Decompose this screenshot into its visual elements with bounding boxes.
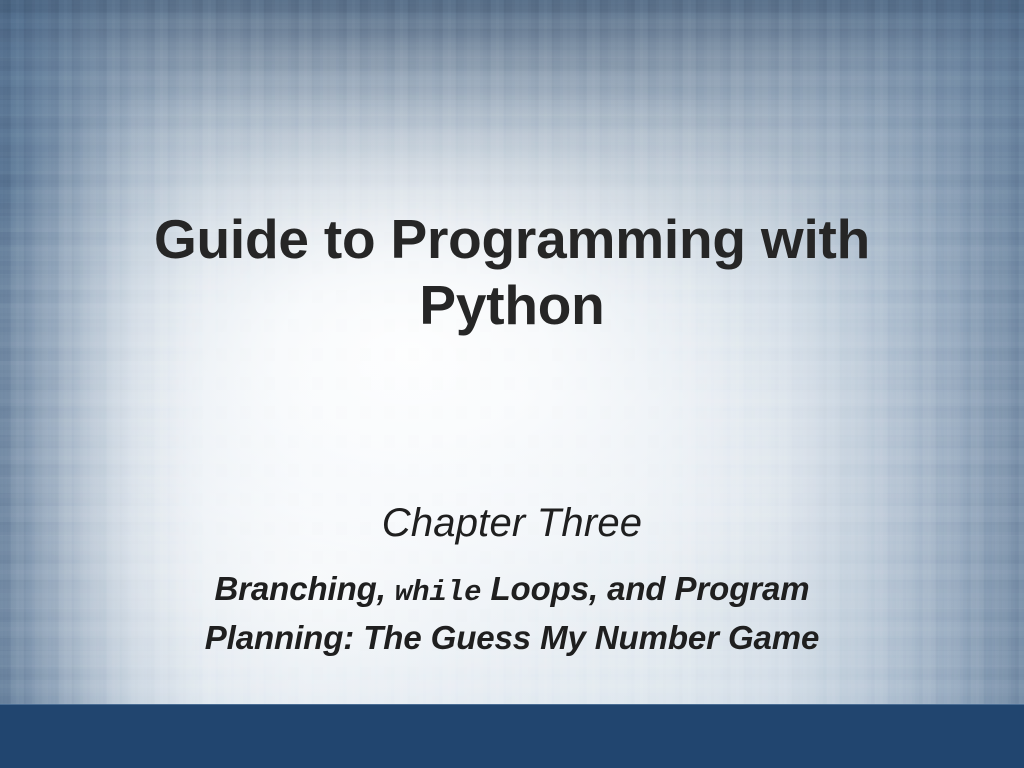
footer-accent-bar [0,704,1024,768]
presentation-slide: Guide to Programming with Python Chapter… [0,0,1024,768]
chapter-label: Chapter Three [70,498,954,548]
slide-subtitle: Chapter Three Branching, while Loops, an… [70,498,954,660]
title-line-2: Python [62,272,962,338]
subtitle-text-before-keyword: Branching, [214,570,385,607]
slide-title: Guide to Programming with Python [62,206,962,338]
subtitle-line-2: Planning: The Guess My Number Game [70,615,954,660]
subtitle-description: Branching, while Loops, and Program Plan… [70,566,954,660]
subtitle-code-keyword: while [395,576,482,609]
subtitle-line-1: Branching, while Loops, and Program [70,566,954,615]
subtitle-text-after-keyword: Loops, and Program [490,570,809,607]
title-line-1: Guide to Programming with [62,206,962,272]
slide-content: Guide to Programming with Python Chapter… [0,0,1024,768]
